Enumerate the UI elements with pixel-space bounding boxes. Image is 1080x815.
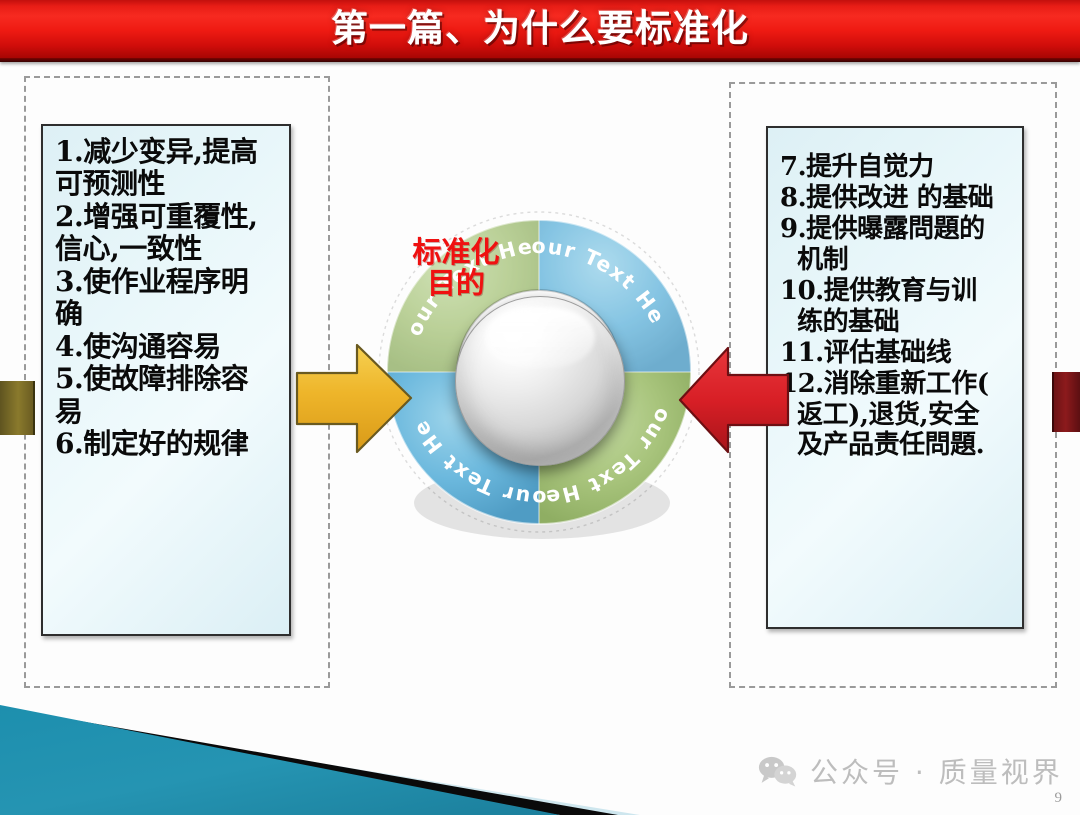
left-line: 4.使沟通容易	[55, 331, 281, 363]
wechat-icon	[758, 755, 798, 787]
right-line: 11.评估基础线	[780, 338, 1014, 369]
left-line: 可预测性	[55, 168, 281, 200]
left-line: 1.减少变异,提高	[55, 136, 281, 168]
right-line: 10.提供教育与训	[780, 276, 1014, 307]
arrow-right-gold-icon	[295, 341, 413, 456]
right-text-panel: 7.提升自觉力 8.提供改进 的基础 9.提供曝露問題的 机制 10.提供教育与…	[766, 126, 1024, 629]
left-line: 易	[55, 396, 281, 428]
left-text-panel: 1.减少变异,提高 可预测性 2.增强可重覆性, 信心,一致性 3.使作业程序明…	[41, 124, 291, 636]
left-line: 5.使故障排除容	[55, 363, 281, 395]
center-label: 标准化 目的	[372, 237, 540, 300]
right-line: 练的基础	[780, 307, 1014, 338]
center-line-2: 目的	[372, 268, 540, 299]
right-line: 12.消除重新工作(	[780, 369, 1014, 400]
decorative-wedge	[0, 665, 640, 815]
arrow-left-red-icon	[678, 345, 790, 455]
left-line: 2.增强可重覆性,	[55, 201, 281, 233]
donut-diagram: Your Text Here Your Text Here Your Text …	[372, 203, 706, 567]
left-line: 信心,一致性	[55, 233, 281, 265]
right-line: 7.提升自觉力	[780, 152, 1014, 183]
left-line: 3.使作业程序明	[55, 266, 281, 298]
right-line: 9.提供曝露問題的	[780, 214, 1014, 245]
right-line: 机制	[780, 245, 1014, 276]
right-edge-arrow-tail	[1052, 372, 1080, 432]
center-sphere	[455, 296, 625, 466]
right-line: 及产品责任問題.	[780, 430, 1014, 461]
right-line: 8.提供改进 的基础	[780, 183, 1014, 214]
page-title: 第一篇、为什么要标准化	[0, 0, 1080, 62]
page-number: 9	[1055, 790, 1063, 807]
center-line-1: 标准化	[372, 237, 540, 268]
left-line: 确	[55, 298, 281, 330]
left-line: 6.制定好的规律	[55, 428, 281, 460]
watermark: 公众号 · 质量视界	[758, 751, 1063, 791]
left-edge-arrow-tail	[0, 381, 35, 435]
watermark-text: 公众号 · 质量视界	[810, 751, 1063, 791]
right-line: 返工),退货,安全	[780, 400, 1014, 431]
slide-root: 第一篇、为什么要标准化 1.减少变异,提高 可预测性 2.增强可重覆性, 信心,…	[0, 0, 1080, 815]
